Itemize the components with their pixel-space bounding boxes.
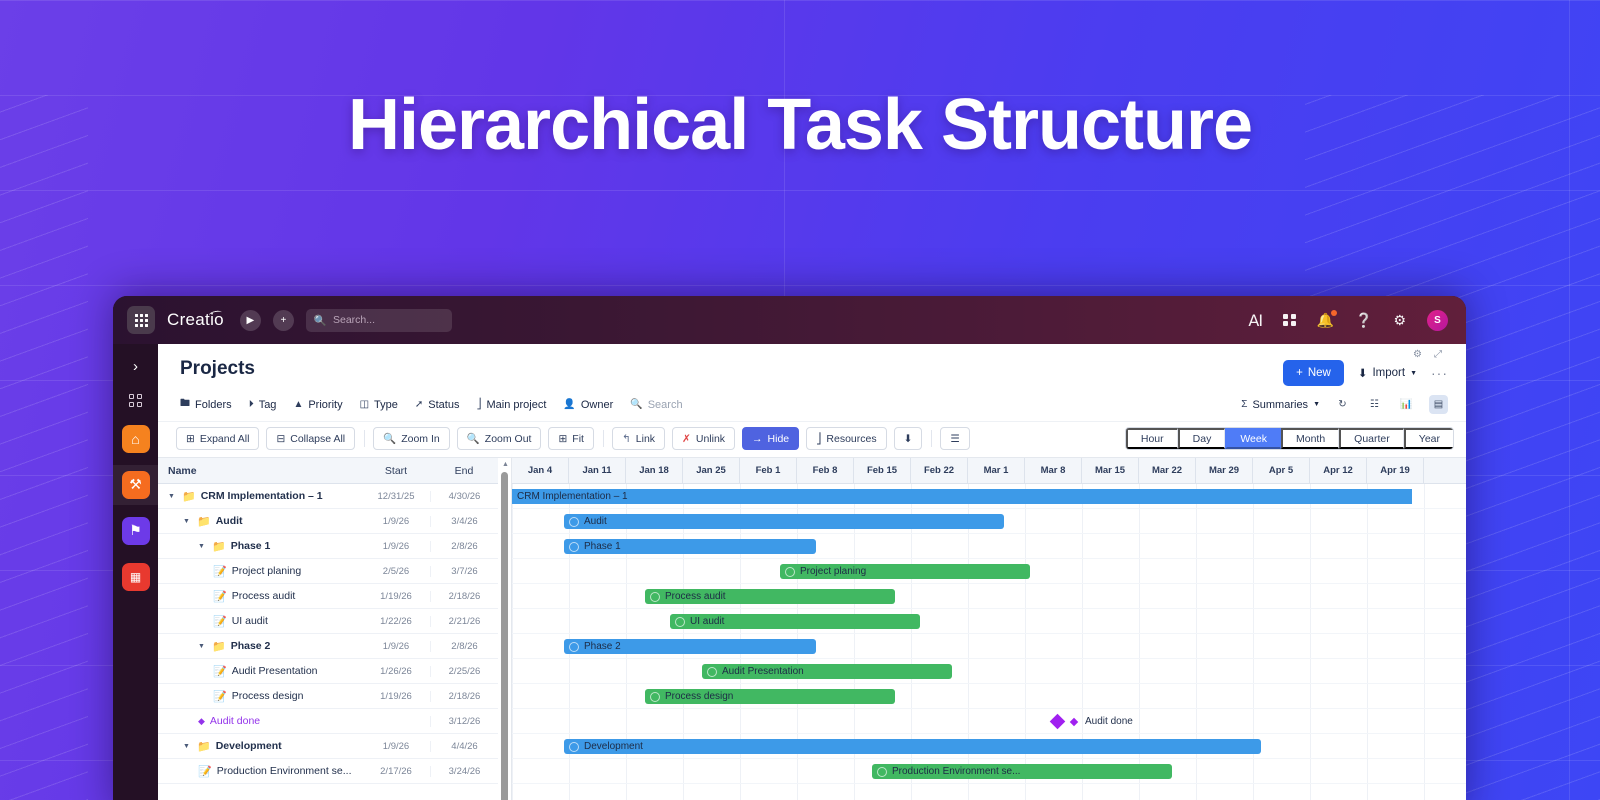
gantt-bar-label: Project planing [800, 566, 866, 577]
gantt-bar-label: Development [584, 741, 643, 752]
gantt-bar-label: Phase 2 [584, 641, 621, 652]
resources-icon: ⎦ [816, 433, 821, 445]
filter-row: 🖿Folders ⏵Tag ▲Priority ◫Type ➚Status ⎦M… [158, 386, 1466, 421]
chevron-down-icon: ▼ [1313, 401, 1320, 408]
task-name: Audit [216, 515, 243, 527]
task-end: 3/24/26 [430, 766, 498, 777]
panel-gear-icon[interactable]: ⚙ [1413, 349, 1422, 360]
fit-button[interactable]: ⊞Fit [548, 427, 593, 450]
gantt-bar[interactable]: Production Environment se... [872, 764, 1172, 779]
scale-year[interactable]: Year [1404, 428, 1453, 449]
filter-label: Priority [308, 399, 342, 411]
zoom-in-button[interactable]: 🔍Zoom In [373, 427, 450, 450]
gantt-bar[interactable]: Process audit [645, 589, 895, 604]
doc-icon: 📝 [198, 765, 212, 778]
gantt-toolbar: ⊞Expand All ⊟Collapse All 🔍Zoom In 🔍Zoom… [158, 421, 1466, 457]
scroll-up-arrow-icon[interactable]: ▲ [502, 461, 509, 468]
task-start: 1/19/26 [362, 591, 430, 602]
rail-app-grid-icon[interactable] [129, 394, 142, 407]
warning-icon: ▲ [293, 399, 303, 410]
task-start: 1/19/26 [362, 691, 430, 702]
filter-owner[interactable]: 👤Owner [563, 399, 613, 411]
gantt-bar-label: Process audit [665, 591, 726, 602]
app-window: Creatio ▶ + 🔍 Search... AI 🔔 ❔ ⚙ S › ⌂ ⚒… [113, 296, 1466, 800]
sidebar-item-flag[interactable]: ⚑ [122, 517, 150, 545]
scrollbar-thumb[interactable] [501, 472, 508, 800]
bar-progress-knob[interactable] [877, 767, 887, 777]
timeline-tick: Mar 15 [1082, 458, 1139, 483]
gantt-bar[interactable]: CRM Implementation – 1 [512, 489, 1412, 504]
task-table-header: Name Start End [158, 458, 498, 484]
unlink-icon: ✗ [682, 433, 691, 445]
task-name: Audit done [210, 715, 260, 727]
play-icon[interactable]: ▶ [240, 310, 261, 331]
timeline-tick: Mar 22 [1139, 458, 1196, 483]
gantt-row: Phase 2 [512, 634, 1466, 659]
gantt-bar[interactable]: Phase 1 [564, 539, 816, 554]
person-icon: 👤 [563, 399, 575, 410]
timeline-tick: Feb 22 [911, 458, 968, 483]
table-row[interactable]: ▼📁Audit1/9/263/4/26 [158, 509, 498, 534]
scale-month[interactable]: Month [1281, 428, 1339, 449]
task-name: Process design [232, 690, 304, 702]
filter-priority[interactable]: ▲Priority [293, 399, 342, 411]
filter-main-project[interactable]: ⎦Main project [476, 399, 546, 411]
bar-progress-knob[interactable] [569, 642, 579, 652]
summaries-button[interactable]: Σ Summaries ▼ [1241, 399, 1320, 411]
timeline-tick: Jan 25 [683, 458, 740, 483]
gantt-row: Phase 1 [512, 534, 1466, 559]
task-end: 3/12/26 [430, 716, 498, 727]
vertical-scrollbar[interactable]: ▲ [498, 458, 512, 800]
task-end: 4/4/26 [430, 741, 498, 752]
arrow-right-icon: → [752, 433, 763, 445]
timeline-tick: Feb 8 [797, 458, 854, 483]
filter-folders[interactable]: 🖿Folders [180, 396, 232, 413]
button-label: Hide [768, 433, 790, 445]
hatch-pattern-left [0, 95, 88, 800]
sidebar-item-calendar[interactable]: ▦ [122, 563, 150, 591]
folder-icon: 🖿 [180, 396, 190, 413]
table-row[interactable]: 📝Audit Presentation1/26/262/25/26 [158, 659, 498, 684]
timeline-tick: Apr 19 [1367, 458, 1424, 483]
timeline-tick: Feb 15 [854, 458, 911, 483]
timescale-group: Hour Day Week Month Quarter Year [1125, 427, 1454, 450]
chevron-down-icon: ▼ [1410, 370, 1417, 377]
hide-button[interactable]: →Hide [742, 427, 799, 450]
bar-progress-knob[interactable] [675, 617, 685, 627]
gantt-bar[interactable]: Development [564, 739, 1261, 754]
table-row[interactable]: ▼📁Development1/9/264/4/26 [158, 734, 498, 759]
task-start: 1/26/26 [362, 666, 430, 677]
global-search-input[interactable]: 🔍 Search... [306, 309, 452, 332]
timeline-tick: Feb 1 [740, 458, 797, 483]
filter-type[interactable]: ◫Type [360, 399, 398, 411]
bar-progress-knob[interactable] [569, 742, 579, 752]
zoom-in-icon: 🔍 [383, 432, 396, 445]
task-name: Process audit [232, 590, 296, 602]
table-row[interactable]: ▼📁Phase 11/9/262/8/26 [158, 534, 498, 559]
gantt-container: Name Start End ▼📁CRM Implementation – 11… [158, 457, 1466, 800]
rail-expand-chevron-icon[interactable]: › [133, 352, 138, 380]
bar-progress-knob[interactable] [707, 667, 717, 677]
fit-icon: ⊞ [558, 433, 567, 445]
doc-icon: 📝 [213, 565, 227, 578]
search-icon: 🔍 [630, 399, 642, 410]
table-row[interactable]: 📝Process audit1/19/262/18/26 [158, 584, 498, 609]
button-label: Collapse All [290, 433, 345, 445]
unlink-button[interactable]: ✗Unlink [672, 427, 735, 450]
task-end: 3/7/26 [430, 566, 498, 577]
task-end: 3/4/26 [430, 516, 498, 527]
button-label: Link [636, 433, 655, 445]
task-start: 1/9/26 [362, 741, 430, 752]
new-button[interactable]: + New [1283, 360, 1344, 386]
gantt-bar-label: Process design [665, 691, 733, 702]
collapse-all-button[interactable]: ⊟Collapse All [266, 427, 355, 450]
filter-label: Main project [486, 399, 546, 411]
button-label: Expand All [200, 433, 250, 445]
minus-box-icon: ⊟ [276, 433, 285, 445]
notifications-bell-icon[interactable]: 🔔 [1317, 312, 1334, 329]
tag-icon: ⏵ [249, 399, 254, 410]
refresh-icon[interactable]: ↻ [1333, 395, 1352, 414]
table-row[interactable]: 📝Production Environment se...2/17/263/24… [158, 759, 498, 784]
task-name: Audit Presentation [232, 665, 318, 677]
filter-label: Search [648, 399, 683, 411]
gantt-bar-label: Audit Presentation [722, 666, 804, 677]
task-start: 1/22/26 [362, 616, 430, 627]
table-row[interactable]: ▼📁CRM Implementation – 112/31/254/30/26 [158, 484, 498, 509]
scale-day[interactable]: Day [1178, 428, 1226, 449]
filter-label: Tag [259, 399, 277, 411]
panel-header: Projects ⚙ ⤢ + New ⬇ Import ▼ ··· [158, 344, 1466, 386]
expand-all-button[interactable]: ⊞Expand All [176, 427, 259, 450]
zoom-out-icon: 🔍 [467, 432, 480, 445]
sigma-icon: Σ [1241, 399, 1247, 410]
column-header-end[interactable]: End [430, 465, 498, 477]
task-name: Phase 2 [231, 640, 271, 652]
menu-icon: ☰ [950, 433, 959, 445]
plus-icon[interactable]: + [273, 310, 294, 331]
ai-icon[interactable]: AI [1248, 311, 1262, 330]
bar-progress-knob[interactable] [650, 592, 660, 602]
task-start: 1/9/26 [362, 641, 430, 652]
bar-progress-knob[interactable] [650, 692, 660, 702]
gantt-bar-rows: CRM Implementation – 1AuditPhase 1Projec… [512, 484, 1466, 800]
gantt-row: Audit [512, 509, 1466, 534]
zoom-out-button[interactable]: 🔍Zoom Out [457, 427, 542, 450]
task-name: Phase 1 [231, 540, 271, 552]
table-row[interactable]: 📝UI audit1/22/262/21/26 [158, 609, 498, 634]
summaries-label: Summaries [1252, 399, 1308, 411]
gantt-row: Development [512, 734, 1466, 759]
filter-status[interactable]: ➚Status [415, 399, 460, 411]
app-launcher-icon[interactable] [127, 306, 155, 334]
filter-label: Owner [581, 399, 613, 411]
expand-caret-icon[interactable]: ▼ [168, 493, 177, 500]
timeline-tick: Jan 4 [512, 458, 569, 483]
filter-label: Type [374, 399, 398, 411]
folder-icon: 📁 [182, 490, 196, 503]
task-end: 2/8/26 [430, 541, 498, 552]
settings-gear-icon[interactable]: ⚙ [1393, 312, 1406, 329]
gantt-bar-label: CRM Implementation – 1 [517, 491, 628, 502]
resources-button[interactable]: ⎦Resources [806, 427, 886, 450]
timeline-tick: Jan 11 [569, 458, 626, 483]
gantt-bar[interactable]: Audit Presentation [702, 664, 952, 679]
chart-view-icon[interactable]: 📊 [1397, 395, 1416, 414]
bar-progress-knob[interactable] [569, 542, 579, 552]
user-avatar[interactable]: S [1427, 310, 1448, 331]
search-icon: 🔍 [314, 314, 327, 327]
task-end: 2/21/26 [430, 616, 498, 627]
gantt-chart: Jan 4Jan 11Jan 18Jan 25Feb 1Feb 8Feb 15F… [512, 458, 1466, 800]
apps-grid-icon[interactable] [1283, 314, 1296, 327]
gantt-bar[interactable]: Phase 2 [564, 639, 816, 654]
task-name: CRM Implementation – 1 [201, 490, 323, 502]
panel-title: Projects [180, 358, 255, 380]
download-icon: ⬇ [1358, 366, 1368, 380]
button-label: Zoom In [401, 433, 440, 445]
download-icon: ⬇ [904, 433, 913, 445]
gantt-view-icon[interactable]: ▤ [1429, 395, 1448, 414]
link-icon: ↰ [622, 433, 631, 445]
task-name: Production Environment se... [217, 765, 352, 777]
hierarchy-icon: ⎦ [476, 399, 481, 410]
filter-label: Status [428, 399, 459, 411]
expand-caret-icon[interactable]: ▼ [198, 543, 207, 550]
import-button[interactable]: ⬇ Import ▼ [1358, 366, 1417, 380]
gantt-bar-label: Audit [584, 516, 607, 527]
gantt-row: CRM Implementation – 1 [512, 484, 1466, 509]
app-topbar: Creatio ▶ + 🔍 Search... AI 🔔 ❔ ⚙ S [113, 296, 1466, 344]
panel-expand-icon[interactable]: ⤢ [1434, 349, 1442, 360]
task-start: 1/9/26 [362, 541, 430, 552]
task-end: 4/30/26 [430, 491, 498, 502]
gantt-bar[interactable]: Project planing [780, 564, 1030, 579]
table-row[interactable]: ◆Audit done3/12/26 [158, 709, 498, 734]
button-label: Resources [826, 433, 876, 445]
sidebar-item-projects[interactable]: ⚒ [122, 471, 150, 499]
timeline-tick: Jan 18 [626, 458, 683, 483]
task-table: Name Start End ▼📁CRM Implementation – 11… [158, 458, 498, 800]
timeline-tick: Apr 12 [1310, 458, 1367, 483]
expand-caret-icon[interactable]: ▼ [198, 643, 207, 650]
column-header-start[interactable]: Start [362, 465, 430, 477]
task-end: 2/8/26 [430, 641, 498, 652]
new-button-label: New [1308, 367, 1331, 379]
gantt-bar[interactable]: Process design [645, 689, 895, 704]
column-header-name[interactable]: Name [158, 465, 362, 477]
gantt-bar-label: UI audit [690, 616, 724, 627]
timeline-header: Jan 4Jan 11Jan 18Jan 25Feb 1Feb 8Feb 15F… [512, 458, 1466, 484]
gantt-bar-label: Phase 1 [584, 541, 621, 552]
task-name: Development [216, 740, 282, 752]
doc-icon: 📝 [213, 665, 227, 678]
gantt-row: Process design [512, 684, 1466, 709]
button-label: Unlink [696, 433, 725, 445]
scale-quarter[interactable]: Quarter [1339, 428, 1404, 449]
milestone-marker[interactable] [1050, 714, 1066, 730]
task-name: Project planing [232, 565, 301, 577]
table-row[interactable]: 📝Project planing2/5/263/7/26 [158, 559, 498, 584]
milestone-icon: ◆ [198, 716, 205, 727]
scale-hour[interactable]: Hour [1126, 428, 1178, 449]
filter-tag[interactable]: ⏵Tag [249, 399, 277, 411]
page-title: Hierarchical Task Structure [0, 88, 1600, 164]
import-button-label: Import [1372, 367, 1405, 379]
filter-label: Folders [195, 399, 232, 411]
gantt-row: Audit done [512, 709, 1466, 734]
milestone-label: Audit done [1085, 716, 1133, 727]
timeline-tick: Mar 29 [1196, 458, 1253, 483]
task-start: 2/5/26 [362, 566, 430, 577]
gantt-row: Production Environment se... [512, 759, 1466, 784]
task-start: 12/31/25 [362, 491, 430, 502]
gantt-bar-label: Production Environment se... [892, 766, 1020, 777]
help-icon[interactable]: ❔ [1355, 312, 1372, 329]
milestone-marker-small [1070, 718, 1078, 726]
filter-search[interactable]: 🔍Search [630, 399, 682, 411]
task-end: 2/18/26 [430, 591, 498, 602]
table-row[interactable]: ▼📁Phase 21/9/262/8/26 [158, 634, 498, 659]
gantt-row: Audit Presentation [512, 659, 1466, 684]
gantt-row: Project planing [512, 559, 1466, 584]
export-download-button[interactable]: ⬇ [894, 427, 923, 450]
timeline-tick: Mar 1 [968, 458, 1025, 483]
scale-week[interactable]: Week [1225, 428, 1281, 449]
list-view-icon[interactable]: ☷ [1365, 395, 1384, 414]
task-end: 2/25/26 [430, 666, 498, 677]
folder-icon: 📁 [212, 640, 226, 653]
button-label: Fit [572, 433, 584, 445]
doc-icon: 📝 [213, 615, 227, 628]
expand-caret-icon[interactable]: ▼ [183, 743, 192, 750]
doc-icon: 📝 [213, 590, 227, 603]
timeline-tick: Apr 5 [1253, 458, 1310, 483]
expand-caret-icon[interactable]: ▼ [183, 518, 192, 525]
left-rail: › ⌂ ⚒ ⚑ ▦ [113, 344, 158, 800]
sidebar-item-home[interactable]: ⌂ [122, 425, 150, 453]
bar-progress-knob[interactable] [569, 517, 579, 527]
task-start: 2/17/26 [362, 766, 430, 777]
rocket-icon: ➚ [415, 399, 423, 410]
task-name: UI audit [232, 615, 268, 627]
button-label: Zoom Out [485, 433, 532, 445]
plus-icon: + [1296, 367, 1303, 379]
folder-icon: 📁 [212, 540, 226, 553]
table-row[interactable]: 📝Process design1/19/262/18/26 [158, 684, 498, 709]
type-icon: ◫ [360, 399, 369, 410]
bar-progress-knob[interactable] [785, 567, 795, 577]
folder-icon: 📁 [197, 740, 211, 753]
task-end: 2/18/26 [430, 691, 498, 702]
gantt-bar[interactable]: UI audit [670, 614, 920, 629]
gantt-row: UI audit [512, 609, 1466, 634]
doc-icon: 📝 [213, 690, 227, 703]
link-button[interactable]: ↰Link [612, 427, 665, 450]
menu-button[interactable]: ☰ [940, 427, 969, 450]
global-search-placeholder: Search... [333, 314, 375, 326]
timeline-tick: Mar 8 [1025, 458, 1082, 483]
brand-logo: Creatio [167, 310, 228, 330]
main-panel: Projects ⚙ ⤢ + New ⬇ Import ▼ ··· [158, 344, 1466, 800]
gantt-bar[interactable]: Audit [564, 514, 1004, 529]
task-start: 1/9/26 [362, 516, 430, 527]
gantt-row: Process audit [512, 584, 1466, 609]
plus-box-icon: ⊞ [186, 433, 195, 445]
more-actions-button[interactable]: ··· [1431, 365, 1448, 381]
folder-icon: 📁 [197, 515, 211, 528]
